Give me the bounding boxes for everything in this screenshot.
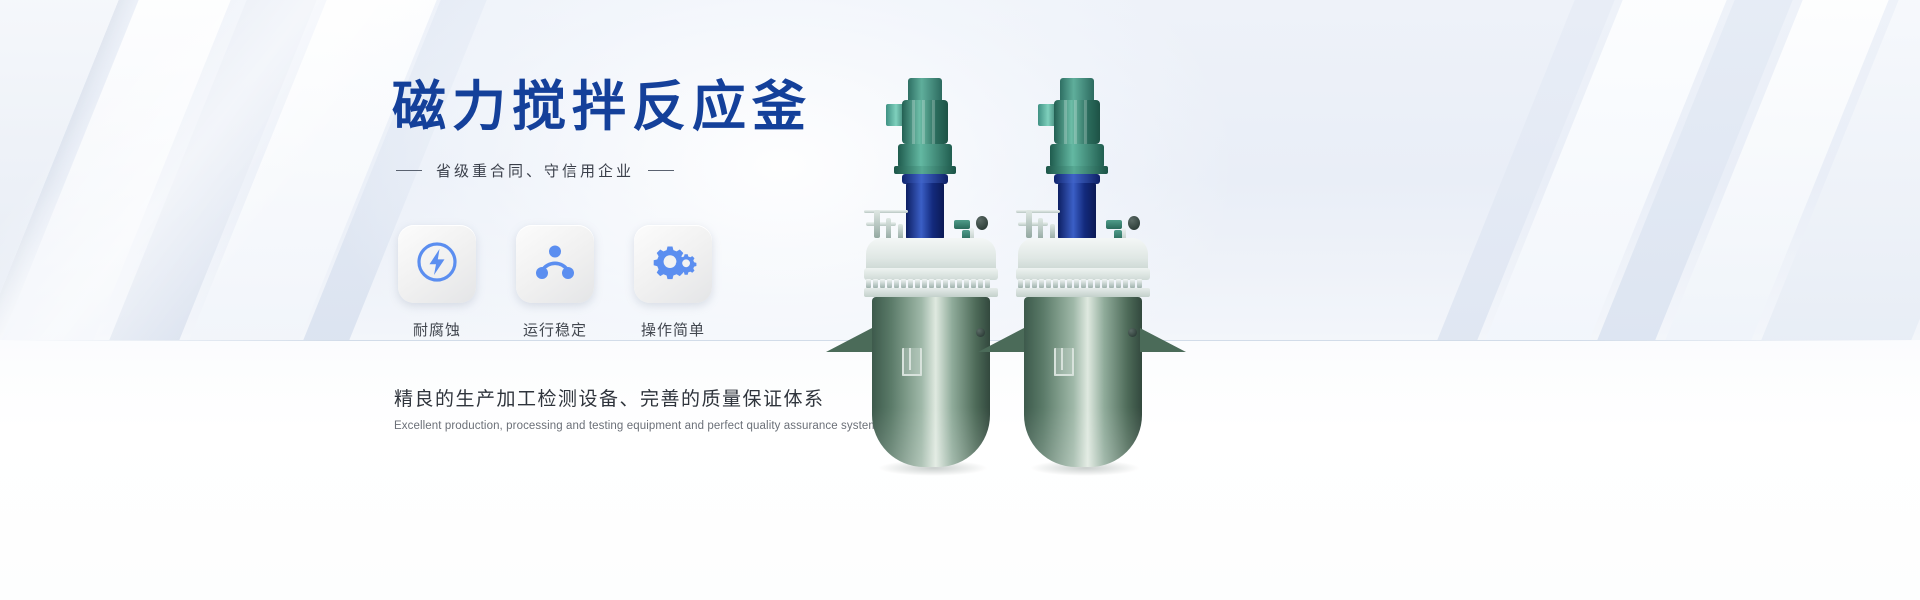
vessel-head [1018, 238, 1148, 272]
motor-fin [1084, 100, 1087, 144]
vessel-body [872, 297, 990, 467]
feature-list: 耐腐蚀 运行稳定 [398, 225, 912, 340]
magnetic-drive-housing [906, 183, 944, 239]
magnetic-drive-housing [1058, 183, 1096, 239]
pressure-gauge-knob [1128, 216, 1140, 230]
nameplate [1054, 348, 1074, 376]
reactor-unit-left [850, 60, 1010, 440]
tagline-english: Excellent production, processing and tes… [394, 420, 912, 432]
side-pipe [1018, 222, 1048, 226]
gears-icon [649, 239, 697, 290]
nameplate [902, 348, 922, 376]
drain-knob [1128, 328, 1137, 337]
teal-valve [954, 220, 970, 229]
side-pipe [866, 222, 896, 226]
product-banner: 磁力搅拌反应釜 省级重合同、守信用企业 耐腐蚀 [0, 0, 1920, 600]
motor-fin [932, 100, 935, 144]
gearbox [1050, 144, 1104, 168]
vessel-head [866, 238, 996, 272]
feature-label: 运行稳定 [516, 319, 594, 340]
feature-item-stable-operation[interactable]: 运行稳定 [516, 225, 594, 340]
dash-left-icon [396, 170, 422, 171]
feature-icon-tile [634, 225, 712, 303]
drain-knob [976, 328, 985, 337]
feature-item-simple-operation[interactable]: 操作简单 [634, 225, 712, 340]
feature-icon-tile [516, 225, 594, 303]
motor-body [902, 100, 948, 144]
share-network-icon [532, 239, 578, 290]
banner-subtitle: 省级重合同、守信用企业 [436, 160, 634, 181]
feature-label: 耐腐蚀 [398, 319, 476, 340]
gearbox-flange [894, 166, 956, 174]
tagline-chinese: 精良的生产加工检测设备、完善的质量保证体系 [394, 384, 912, 411]
valve-stem [874, 210, 880, 238]
product-image-group [840, 60, 1180, 440]
inlet-pipe [1016, 210, 1060, 213]
motor-body [1054, 100, 1100, 144]
page-title: 磁力搅拌反应釜 [392, 80, 912, 134]
motor-fin [1064, 100, 1067, 144]
feature-item-corrosion-resistant[interactable]: 耐腐蚀 [398, 225, 476, 340]
gearbox [898, 144, 952, 168]
bolt-row [1018, 279, 1148, 288]
motor-fin [922, 100, 925, 144]
motor-fin [912, 100, 915, 144]
bolt-row [866, 279, 996, 288]
valve-stem [1026, 210, 1032, 238]
motor-fin [1074, 100, 1077, 144]
teal-valve [1106, 220, 1122, 229]
pressure-gauge-knob [976, 216, 988, 230]
vessel-body [1024, 297, 1142, 467]
reactor-unit-right [1002, 60, 1162, 440]
lightning-bolt-icon [414, 239, 460, 290]
flange-ring-lower [864, 288, 998, 297]
gearbox-flange [1046, 166, 1108, 174]
feature-icon-tile [398, 225, 476, 303]
banner-content: 磁力搅拌反应釜 省级重合同、守信用企业 耐腐蚀 [392, 80, 912, 432]
valve-stem [1038, 218, 1043, 240]
support-bracket-right [1140, 328, 1186, 352]
flange-ring-lower [1016, 288, 1150, 297]
subtitle-row: 省级重合同、守信用企业 [396, 160, 912, 181]
dash-right-icon [648, 170, 674, 171]
valve-stem [886, 218, 891, 240]
feature-label: 操作简单 [634, 319, 712, 340]
inlet-pipe [864, 210, 908, 213]
